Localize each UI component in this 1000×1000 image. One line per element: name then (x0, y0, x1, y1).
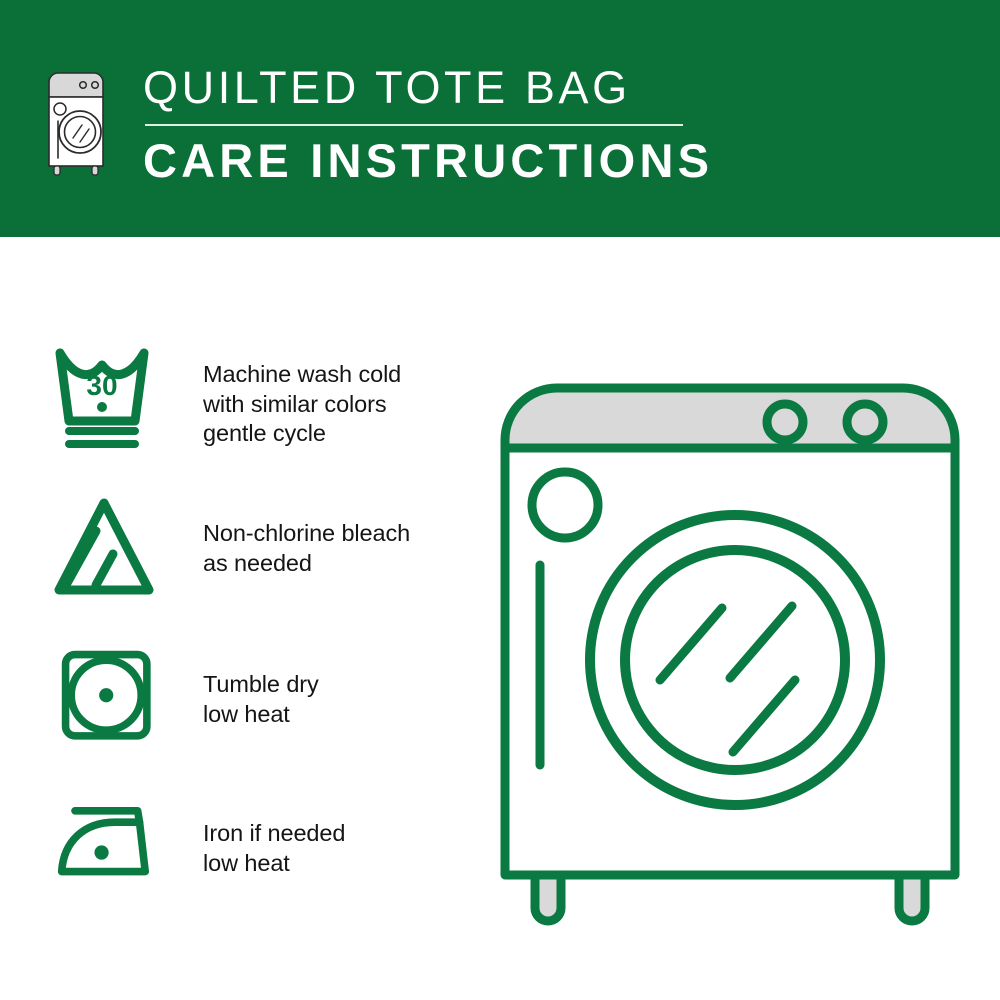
front-load-washing-machine-illustration (495, 330, 965, 930)
iron-low-heat-icon (56, 801, 174, 911)
care-item-label: Iron if needed low heat (203, 819, 345, 878)
header-title-block: QUILTED TOTE BAG CARE INSTRUCTIONS (143, 62, 863, 187)
page-subtitle: CARE INSTRUCTIONS (143, 135, 863, 187)
care-item-label: Machine wash cold with similar colors ge… (203, 360, 401, 449)
care-instruction-list: 30 Machine wash cold with similar colors… (48, 337, 468, 937)
page-title: QUILTED TOTE BAG (143, 62, 863, 114)
care-item-label: Non-chlorine bleach as needed (203, 519, 410, 578)
care-item-machine-wash: 30 Machine wash cold with similar colors… (48, 337, 468, 487)
care-item-label: Tumble dry low heat (203, 670, 319, 729)
care-item-tumble-dry: Tumble dry low heat (48, 637, 468, 787)
machine-wash-tub-icon: 30 (52, 343, 170, 453)
title-divider (145, 124, 683, 126)
header-banner: QUILTED TOTE BAG CARE INSTRUCTIONS (0, 0, 1000, 237)
washing-machine-icon (45, 72, 107, 176)
wash-temperature-value: 30 (86, 370, 117, 401)
non-chlorine-bleach-triangle-icon (52, 493, 170, 603)
care-item-bleach: Non-chlorine bleach as needed (48, 487, 468, 637)
care-item-iron: Iron if needed low heat (48, 787, 468, 937)
infographic-page: QUILTED TOTE BAG CARE INSTRUCTIONS 30 (0, 0, 1000, 1000)
tumble-dry-low-heat-icon (58, 647, 176, 757)
